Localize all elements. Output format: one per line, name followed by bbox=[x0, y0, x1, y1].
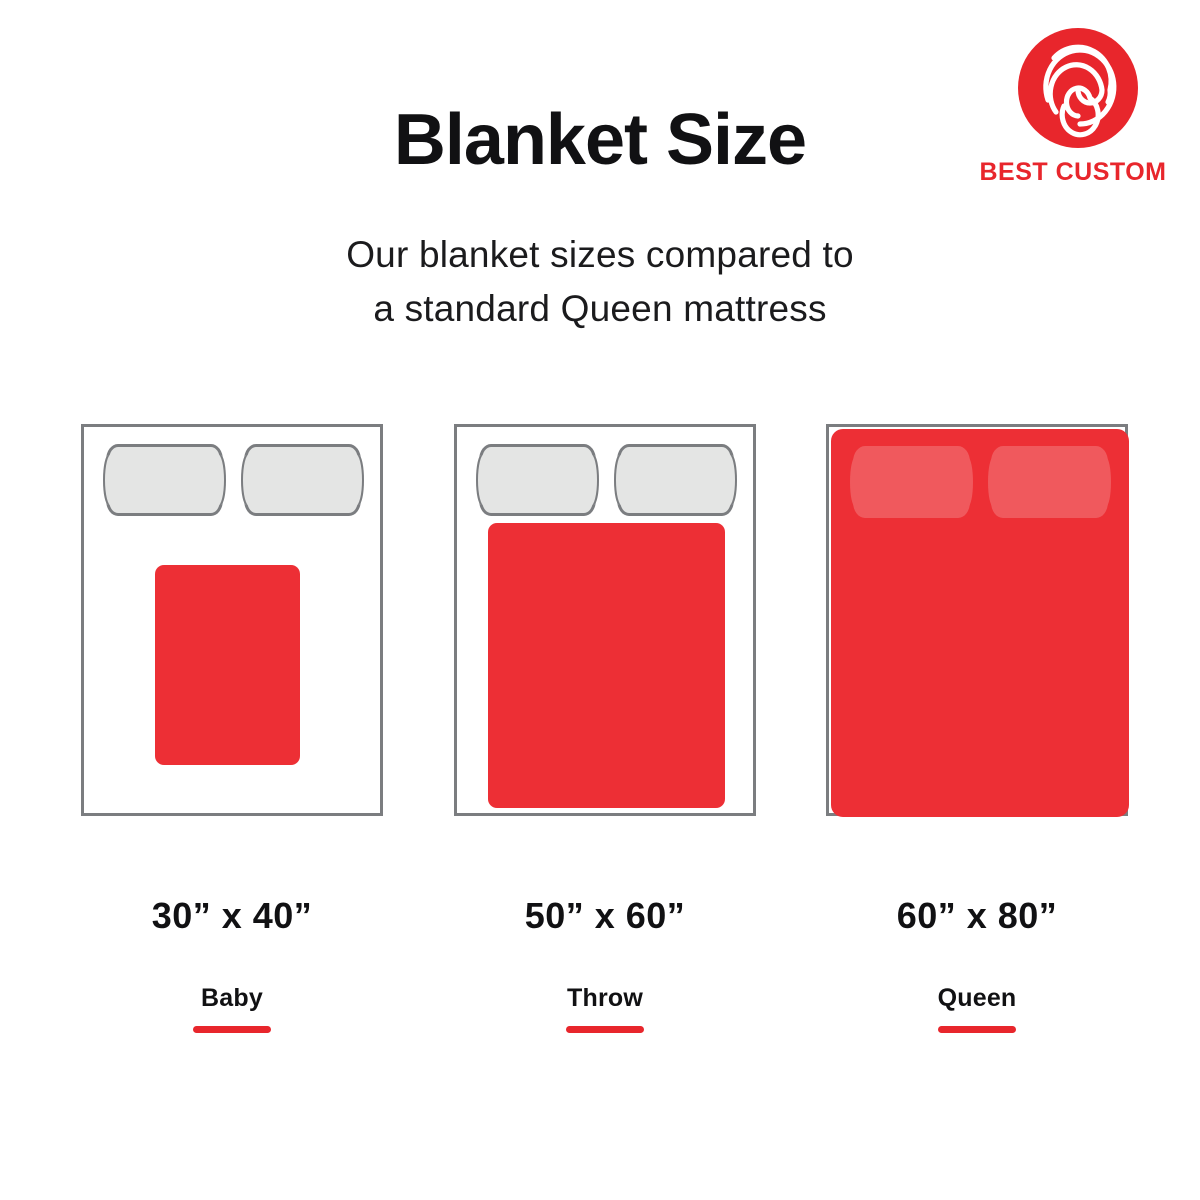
pillow-right bbox=[617, 444, 734, 516]
accent-underline bbox=[566, 1026, 644, 1033]
baby-blanket bbox=[155, 565, 300, 765]
size-dimensions: 30” x 40” bbox=[81, 896, 383, 936]
size-label-throw: 50” x 60” Throw bbox=[454, 896, 756, 1033]
pillow-left bbox=[853, 446, 970, 518]
page-subtitle-line-1: Our blanket sizes compared to bbox=[0, 228, 1200, 282]
page-subtitle: Our blanket sizes compared to a standard… bbox=[0, 228, 1200, 335]
pillow-left bbox=[479, 444, 596, 516]
size-label-queen: 60” x 80” Queen bbox=[826, 896, 1128, 1033]
accent-underline bbox=[193, 1026, 271, 1033]
pillow-right bbox=[244, 444, 361, 516]
bed-diagram-throw bbox=[454, 424, 756, 816]
size-name: Throw bbox=[454, 984, 756, 1013]
bed-diagram-queen bbox=[826, 424, 1128, 816]
queen-mattress-outline bbox=[81, 424, 383, 816]
page-subtitle-line-2: a standard Queen mattress bbox=[0, 282, 1200, 336]
bed-comparison-diagram bbox=[0, 424, 1200, 816]
accent-underline bbox=[938, 1026, 1016, 1033]
size-dimensions: 60” x 80” bbox=[826, 896, 1128, 936]
size-name: Queen bbox=[826, 984, 1128, 1013]
size-dimensions: 50” x 60” bbox=[454, 896, 756, 936]
pillow-right bbox=[991, 446, 1108, 518]
size-labels: 30” x 40” Baby 50” x 60” Throw 60” x 80”… bbox=[0, 896, 1200, 1056]
queen-mattress-outline bbox=[826, 424, 1128, 816]
pillow-left bbox=[106, 444, 223, 516]
throw-blanket bbox=[488, 523, 725, 808]
bed-diagram-baby bbox=[81, 424, 383, 816]
queen-mattress-outline bbox=[454, 424, 756, 816]
queen-blanket bbox=[831, 429, 1129, 817]
page-title: Blanket Size bbox=[0, 103, 1200, 179]
size-name: Baby bbox=[81, 984, 383, 1013]
size-label-baby: 30” x 40” Baby bbox=[81, 896, 383, 1033]
